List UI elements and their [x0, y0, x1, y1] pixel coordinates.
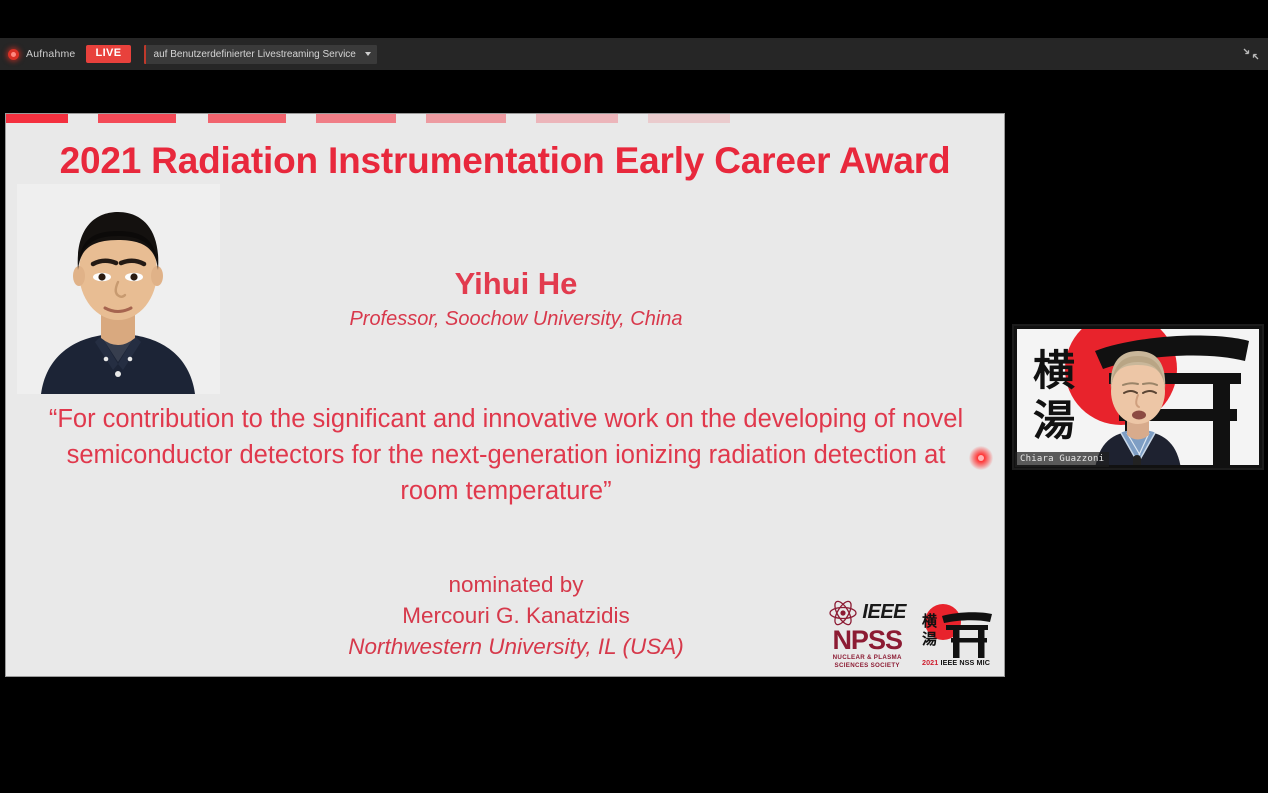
color-bar-gap — [176, 114, 208, 123]
color-bar-gap — [396, 114, 426, 123]
nss-mic-year: 2021 — [922, 658, 938, 667]
color-bar — [426, 114, 506, 123]
video-frame: 横 湯 — [1017, 329, 1259, 465]
participant-video-tile[interactable]: 横 湯 — [1012, 324, 1264, 470]
live-badge: LIVE — [86, 45, 130, 63]
color-bar — [208, 114, 286, 123]
livestream-service-select[interactable]: auf Benutzerdefinierter Livestreaming Se… — [144, 45, 377, 64]
color-bar-gap — [286, 114, 316, 123]
zoom-meeting-screen: Aufnahme LIVE auf Benutzerdefinierter Li… — [0, 0, 1268, 793]
nss-mic-caption: 2021 IEEE NSS MIC — [916, 658, 996, 667]
participant-video-feed: 横 湯 — [1017, 329, 1259, 465]
shared-slide: 2021 Radiation Instrumentation Early Car… — [5, 113, 1005, 677]
collapse-arrows-icon[interactable] — [1242, 46, 1260, 62]
svg-text:湯: 湯 — [922, 630, 937, 648]
color-bar-gap — [68, 114, 98, 123]
svg-text:横: 横 — [922, 612, 938, 630]
ieee-npss-logo: IEEE NPSS NUCLEAR & PLASMA SCIENCES SOCI… — [828, 598, 906, 671]
recording-toolbar: Aufnahme LIVE auf Benutzerdefinierter Li… — [0, 38, 1268, 70]
svg-text:湯: 湯 — [1033, 396, 1075, 445]
color-bar — [6, 114, 68, 123]
honoree-name: Yihui He — [256, 266, 776, 302]
slide-logos: IEEE NPSS NUCLEAR & PLASMA SCIENCES SOCI… — [828, 598, 996, 670]
npss-tagline-line2: SCIENCES SOCIETY — [833, 662, 902, 670]
color-bar-gap — [618, 114, 648, 123]
chevron-down-icon[interactable] — [365, 52, 371, 56]
recording-status-group: Aufnahme LIVE auf Benutzerdefinierter Li… — [0, 38, 377, 70]
nss-mic-name: IEEE NSS MIC — [940, 658, 990, 667]
slide-color-bars — [6, 114, 1004, 123]
npss-tagline: NUCLEAR & PLASMA SCIENCES SOCIETY — [833, 654, 902, 671]
color-bar-gap — [506, 114, 536, 123]
laser-pointer-dot — [969, 446, 993, 470]
honoree-affiliation: Professor, Soochow University, China — [256, 307, 776, 331]
nomination-block: nominated by Mercouri G. Kanatzidis Nort… — [246, 569, 786, 662]
nomination-intro: nominated by — [246, 569, 786, 600]
ieee-atom-icon — [828, 598, 858, 628]
participant-name-label: Chiara Guazzoni — [1015, 452, 1109, 467]
color-bar — [98, 114, 176, 123]
livestream-service-label: auf Benutzerdefinierter Livestreaming Se… — [154, 49, 356, 60]
slide-title: 2021 Radiation Instrumentation Early Car… — [6, 140, 1004, 182]
color-bar — [536, 114, 618, 123]
color-bar — [648, 114, 730, 123]
honoree-block: Yihui He Professor, Soochow University, … — [256, 266, 776, 331]
award-citation: “For contribution to the significant and… — [46, 401, 966, 510]
recording-label: Aufnahme — [26, 48, 75, 60]
record-dot-icon — [8, 49, 19, 60]
npss-wordmark: NPSS — [832, 628, 902, 653]
nss-mic-2021-logo: 横 湯 2021 IEEE NSS MIC — [916, 600, 996, 668]
torii-sun-icon: 横 湯 — [916, 600, 996, 660]
honoree-portrait — [17, 184, 220, 394]
nominator-affiliation: Northwestern University, IL (USA) — [246, 631, 786, 662]
svg-text:横: 横 — [1033, 346, 1075, 395]
color-bar — [316, 114, 396, 123]
nominator-name: Mercouri G. Kanatzidis — [246, 600, 786, 631]
npss-tagline-line1: NUCLEAR & PLASMA — [833, 654, 902, 662]
ieee-wordmark: IEEE — [862, 601, 906, 624]
npss-logo-row: IEEE — [828, 598, 906, 628]
